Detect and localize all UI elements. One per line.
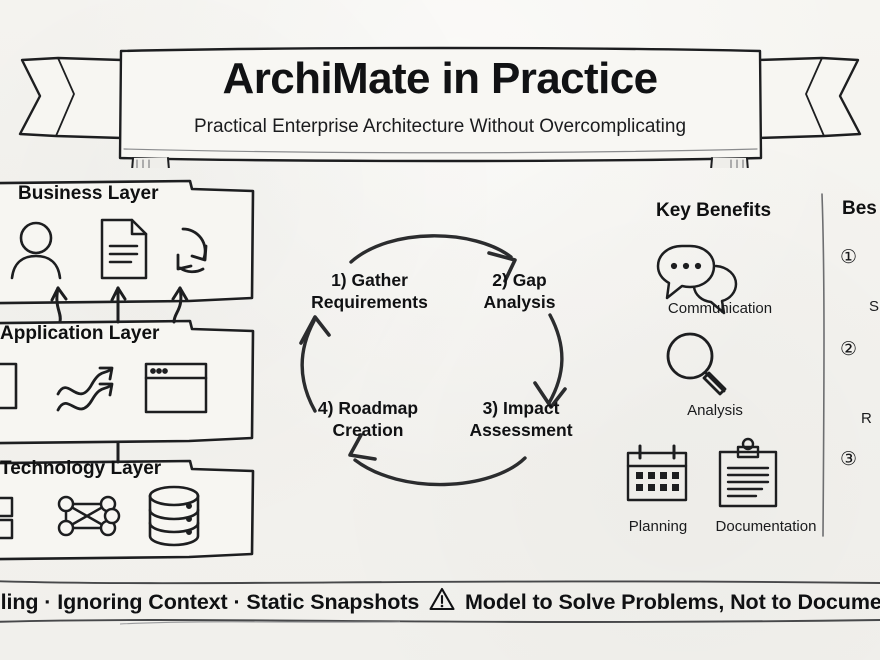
cycle-step-4: 4) Roadmap Creation (300, 398, 436, 442)
cycle-step-2-line1: 2) Gap (462, 270, 577, 292)
best-practices-title: Bes (842, 198, 877, 220)
cycle-step-3: 3) Impact Assessment (455, 398, 587, 442)
key-benefits-icons (612, 228, 827, 528)
cycle-step-1-line2: Requirements (302, 292, 437, 314)
cycle-step-4-line2: Creation (300, 420, 436, 442)
best-practice-number-1: ① (840, 246, 857, 269)
cycle-step-2-line2: Analysis (462, 292, 577, 314)
benefits-icon-drawings (612, 228, 827, 528)
cycle-step-2: 2) Gap Analysis (462, 270, 577, 314)
architecture-layer-stack (0, 172, 260, 572)
tagline-text: Model to Solve Problems, Not to Document… (465, 590, 880, 614)
page-title: ArchiMate in Practice (0, 54, 880, 104)
best-practice-fragment-2: R (861, 410, 872, 427)
layer-title-application: Application Layer (0, 323, 159, 345)
bottom-bar-text: Over-modeling · Ignoring Context · Stati… (0, 587, 880, 615)
best-practice-number-3: ③ (840, 448, 857, 471)
cycle-step-1: 1) Gather Requirements (302, 270, 437, 314)
page-subtitle: Practical Enterprise Architecture Withou… (0, 116, 880, 138)
cycle-step-1-line1: 1) Gather (302, 270, 437, 292)
cycle-step-3-line2: Assessment (455, 420, 587, 442)
benefit-label-planning: Planning (614, 518, 702, 535)
layer-stack-drawing (0, 172, 260, 572)
clipboard-icon (720, 439, 776, 506)
vertical-divider-line (822, 194, 824, 536)
best-practice-number-2: ② (840, 338, 857, 361)
warning-triangle-icon (429, 587, 455, 611)
best-practice-fragment-1: S (869, 298, 879, 315)
architecture-cycle-diagram (285, 215, 600, 535)
benefit-label-documentation: Documentation (700, 518, 832, 535)
benefit-label-communication: Communication (640, 300, 800, 317)
cycle-arrows (285, 215, 600, 535)
best-practices-divider (818, 190, 880, 540)
title-banner: ArchiMate in Practice Practical Enterpri… (0, 18, 880, 168)
key-benefits-title: Key Benefits (656, 200, 771, 222)
cycle-step-4-line1: 4) Roadmap (300, 398, 436, 420)
layer-title-business: Business Layer (18, 183, 158, 205)
calendar-icon (628, 446, 686, 500)
cycle-step-3-line1: 3) Impact (455, 398, 587, 420)
benefit-label-analysis: Analysis (650, 402, 780, 419)
layer-title-technology: Technology Layer (0, 458, 161, 480)
magnifier-icon (668, 334, 725, 394)
pitfalls-text: Over-modeling · Ignoring Context · Stati… (0, 590, 419, 614)
